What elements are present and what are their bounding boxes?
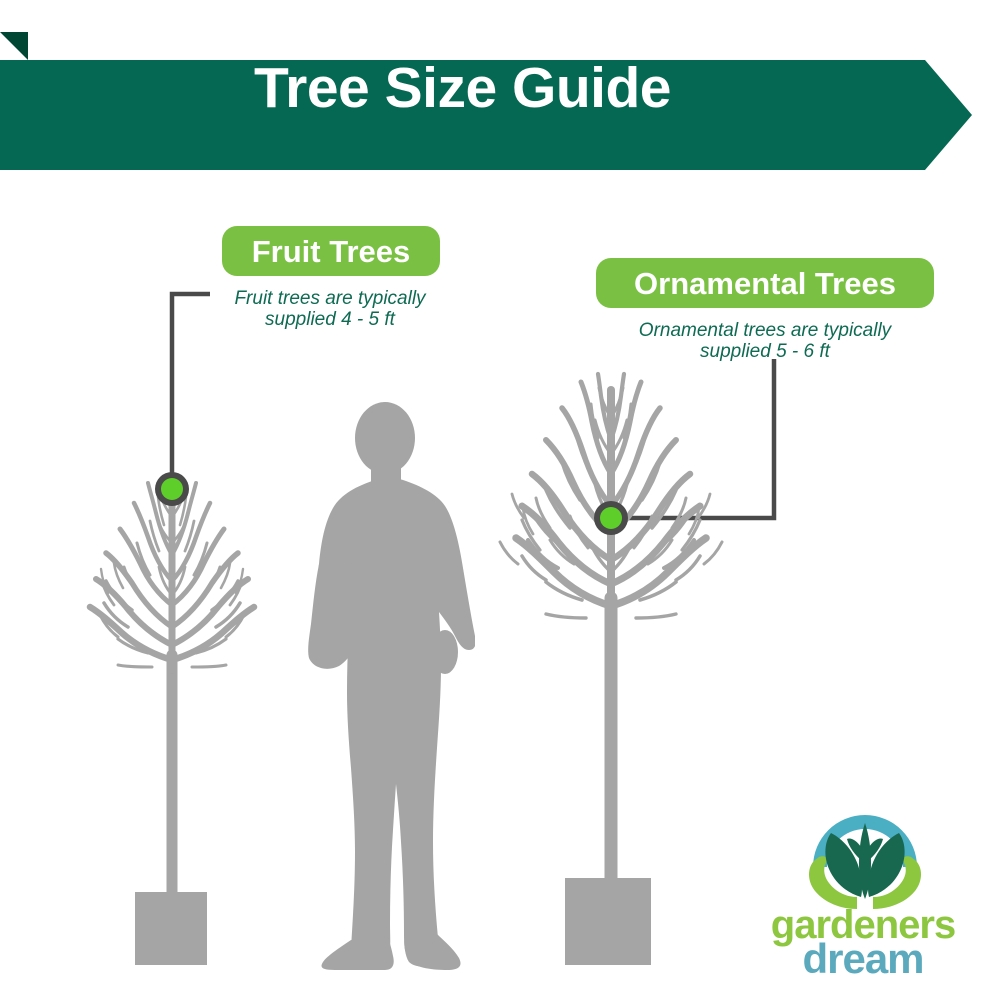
logo-word-dream: dream	[748, 938, 978, 980]
person-silhouette	[305, 400, 475, 970]
badge-fruit-trees: Fruit Trees	[222, 226, 440, 276]
marker-dot-ornamental[interactable]	[591, 498, 631, 538]
page-title: Tree Size Guide	[0, 60, 925, 117]
gardeners-dream-logo-mark	[805, 805, 925, 915]
infographic-canvas: Tree Size Guide Fruit Trees Fruit trees …	[0, 0, 1000, 1000]
caption-fruit-trees: Fruit trees are typically supplied 4 - 5…	[205, 288, 455, 331]
fruit-tree-pot	[135, 892, 207, 965]
banner-fold-corner	[0, 32, 28, 60]
badge-fruit-label: Fruit Trees	[252, 236, 411, 267]
fruit-tree-illustration	[60, 455, 290, 975]
badge-ornamental-label: Ornamental Trees	[634, 268, 896, 299]
badge-ornamental-trees: Ornamental Trees	[596, 258, 934, 308]
ornamental-tree-pot	[565, 878, 651, 965]
ornamental-tree-illustration	[488, 368, 738, 968]
gardeners-dream-wordmark: gardeners dream	[748, 905, 978, 990]
marker-dot-fruit[interactable]	[152, 469, 192, 509]
